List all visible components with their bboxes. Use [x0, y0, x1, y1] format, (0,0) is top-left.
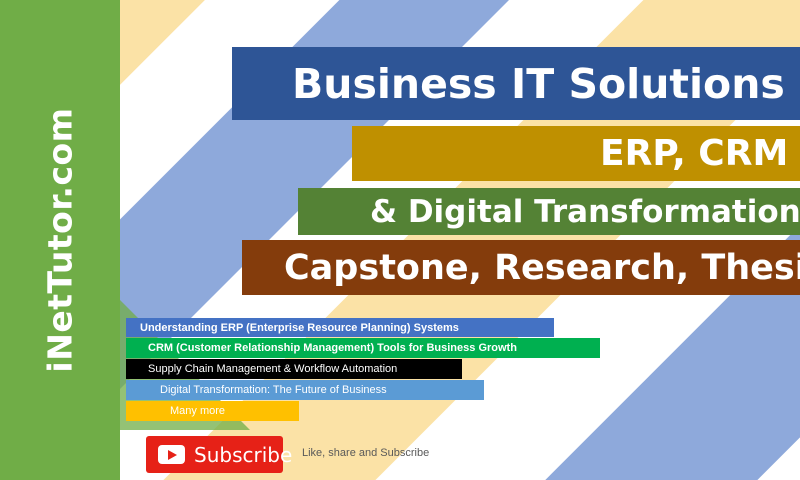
headline-bar-primary: Business IT Solutions	[232, 47, 800, 120]
headline-bar-capstone: Capstone, Research, Thesis	[242, 240, 800, 295]
topic-label: Supply Chain Management & Workflow Autom…	[148, 363, 397, 375]
slide-canvas: iNetTutor.com Business IT Solutions ERP,…	[0, 0, 800, 480]
topic-bar-crm: CRM (Customer Relationship Management) T…	[126, 338, 600, 358]
youtube-play-icon	[158, 445, 185, 464]
topic-bar-many-more: Many more	[126, 401, 299, 421]
headline-text-primary: Business IT Solutions	[292, 60, 785, 108]
subscribe-button-label: Subscribe	[194, 443, 292, 467]
topic-label: Digital Transformation: The Future of Bu…	[160, 384, 387, 396]
brand-wordmark: iNetTutor.com	[41, 107, 80, 372]
headline-text-erp: ERP, CRM	[600, 133, 788, 174]
headline-bar-erp: ERP, CRM	[352, 126, 800, 181]
headline-bar-digital: & Digital Transformation	[298, 188, 800, 235]
topic-label: Many more	[170, 405, 225, 417]
topic-label: CRM (Customer Relationship Management) T…	[148, 342, 517, 354]
subscribe-button[interactable]: Subscribe	[146, 436, 283, 473]
brand-sidebar: iNetTutor.com	[0, 0, 120, 480]
subscribe-note: Like, share and Subscribe	[302, 447, 429, 459]
headline-text-capstone: Capstone, Research, Thesis	[284, 248, 800, 288]
headline-text-digital: & Digital Transformation	[370, 194, 800, 230]
topic-bar-digital-transformation: Digital Transformation: The Future of Bu…	[126, 380, 484, 400]
topic-label: Understanding ERP (Enterprise Resource P…	[140, 322, 459, 334]
topic-bar-erp: Understanding ERP (Enterprise Resource P…	[126, 318, 554, 337]
topic-bar-supply-chain: Supply Chain Management & Workflow Autom…	[126, 359, 462, 379]
